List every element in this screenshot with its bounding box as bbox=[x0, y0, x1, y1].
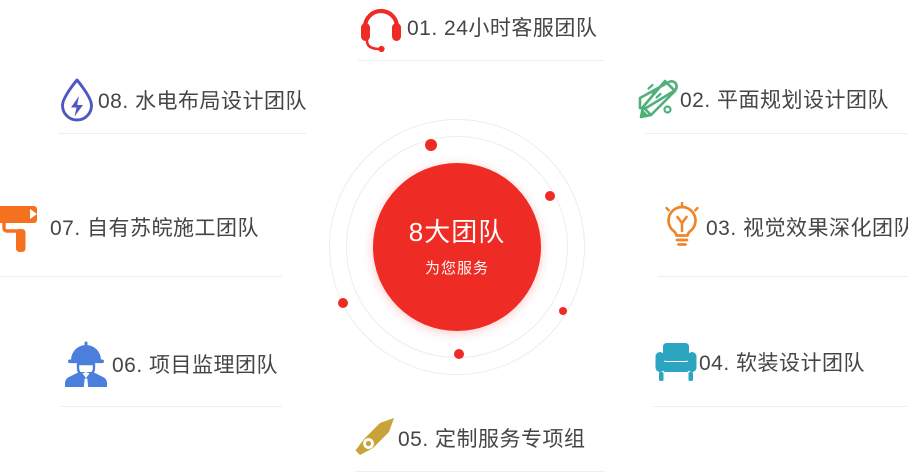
service-item-05-label: 05. 定制服务专项组 bbox=[398, 423, 586, 453]
dot-upper-right bbox=[545, 191, 555, 201]
dot-left bbox=[338, 298, 348, 308]
separator-06 bbox=[60, 406, 282, 407]
service-item-01[interactable]: 01. 24小时客服团队 bbox=[355, 2, 597, 52]
separator-01 bbox=[358, 60, 604, 61]
service-item-01-label: 01. 24小时客服团队 bbox=[407, 12, 597, 42]
center-subtitle: 为您服务 bbox=[425, 261, 489, 276]
pen-nib-icon bbox=[350, 414, 398, 462]
separator-03 bbox=[658, 276, 908, 277]
service-item-03-label: 03. 视觉效果深化团队 bbox=[706, 212, 908, 242]
separator-05 bbox=[355, 471, 605, 472]
service-item-05[interactable]: 05. 定制服务专项组 bbox=[350, 414, 586, 462]
service-item-06[interactable]: 06. 项目监理团队 bbox=[60, 340, 278, 388]
center-title: 8大团队 bbox=[409, 219, 505, 245]
service-item-04-label: 04. 软装设计团队 bbox=[699, 347, 865, 377]
service-item-08-label: 08. 水电布局设计团队 bbox=[98, 85, 307, 115]
water-drop-bolt-icon bbox=[56, 76, 98, 124]
separator-08 bbox=[58, 133, 306, 134]
service-item-07[interactable]: 07. 自有苏皖施工团队 bbox=[0, 200, 259, 254]
center-graphic: 8大团队 为您服务 bbox=[329, 119, 585, 375]
dot-lower-right bbox=[559, 307, 567, 315]
dot-top bbox=[425, 139, 437, 151]
separator-02 bbox=[645, 133, 908, 134]
center-core-circle: 8大团队 为您服务 bbox=[373, 163, 541, 331]
service-item-04[interactable]: 04. 软装设计团队 bbox=[653, 340, 865, 384]
infographic-canvas: 01. 24小时客服团队 bbox=[0, 0, 908, 475]
service-item-02-label: 02. 平面规划设计团队 bbox=[680, 84, 889, 114]
headset-icon bbox=[355, 2, 407, 52]
service-item-03[interactable]: 03. 视觉效果深化团队 bbox=[658, 202, 908, 252]
armchair-icon bbox=[653, 340, 699, 384]
service-item-08[interactable]: 08. 水电布局设计团队 bbox=[56, 76, 307, 124]
service-item-06-label: 06. 项目监理团队 bbox=[112, 349, 278, 379]
lightbulb-icon bbox=[658, 202, 706, 252]
pencil-ruler-icon bbox=[634, 76, 680, 122]
paint-roller-icon bbox=[0, 200, 50, 254]
service-item-07-label: 07. 自有苏皖施工团队 bbox=[50, 212, 259, 242]
service-item-02[interactable]: 02. 平面规划设计团队 bbox=[634, 76, 889, 122]
separator-07 bbox=[0, 276, 282, 277]
dot-bottom bbox=[454, 349, 464, 359]
engineer-icon bbox=[60, 340, 112, 388]
separator-04 bbox=[653, 406, 908, 407]
